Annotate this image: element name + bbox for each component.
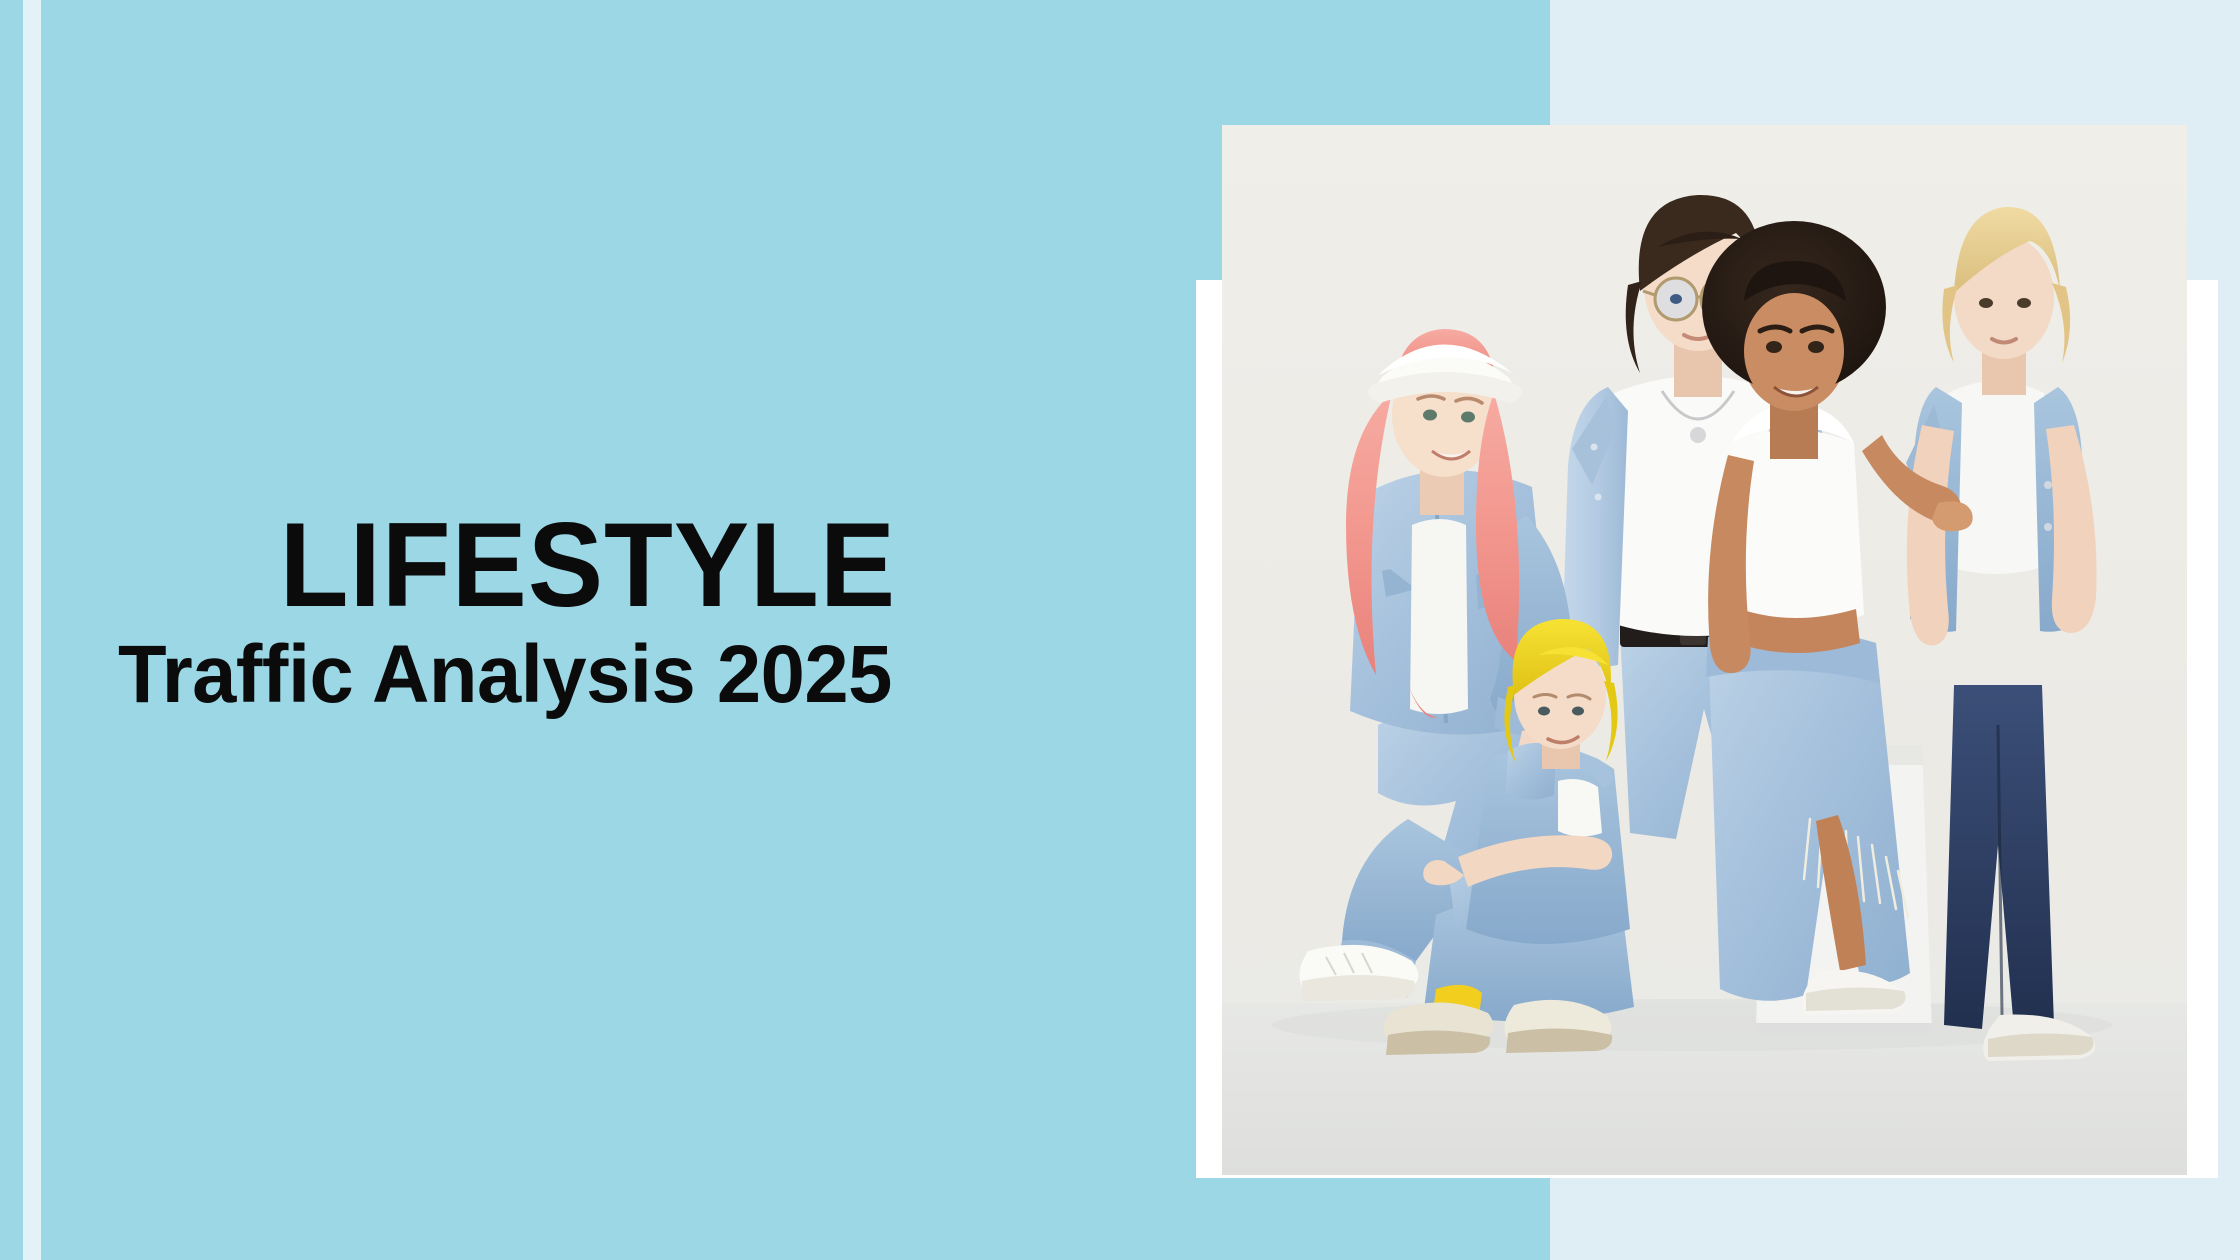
page-title: LIFESTYLE	[118, 508, 1096, 623]
poster-canvas: LIFESTYLE Traffic Analysis 2025	[0, 0, 2240, 1260]
page-subtitle: Traffic Analysis 2025	[118, 633, 1127, 717]
headline-block: LIFESTYLE Traffic Analysis 2025	[118, 508, 1158, 717]
accent-stripe	[23, 0, 41, 1260]
group-photo	[1222, 125, 2187, 1175]
